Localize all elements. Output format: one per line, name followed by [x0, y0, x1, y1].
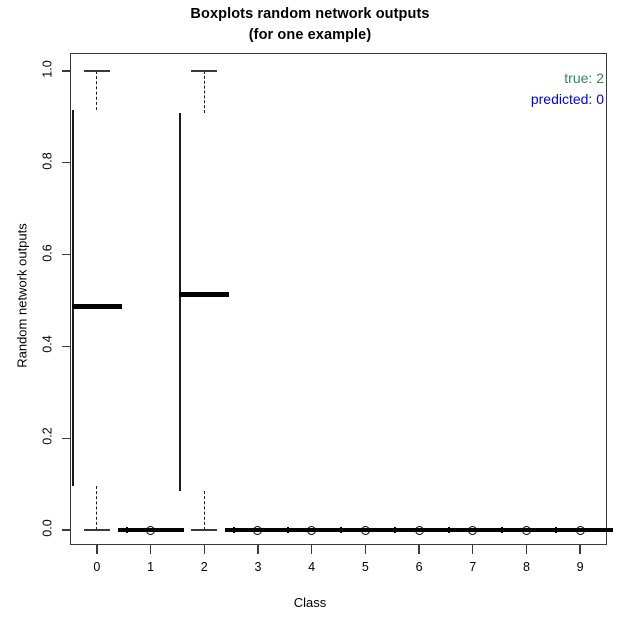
x-tick-mark — [96, 545, 97, 554]
legend-true-row: true: 2 — [531, 68, 604, 89]
x-tick-label: 5 — [345, 560, 385, 574]
x-tick-label: 1 — [131, 560, 171, 574]
x-tick-label: 8 — [506, 560, 546, 574]
legend-true-value: 2 — [596, 70, 604, 86]
chart-title: Boxplots random network outputs (for one… — [0, 4, 620, 46]
chart-title-line-2: (for one example) — [0, 25, 620, 46]
x-tick-mark — [150, 545, 151, 554]
y-tick-label: 0.6 — [0, 246, 56, 260]
x-tick-label: 2 — [184, 560, 224, 574]
x-tick-mark — [365, 545, 366, 554]
legend-predicted-label: predicted: — [531, 91, 592, 107]
x-axis-label: Class — [0, 595, 620, 610]
y-tick-label: 0.8 — [0, 154, 56, 168]
x-tick-label: 6 — [399, 560, 439, 574]
boxplot-figure: Boxplots random network outputs (for one… — [0, 0, 620, 620]
x-tick-label: 4 — [292, 560, 332, 574]
y-tick-label: 1.0 — [0, 62, 56, 76]
chart-title-line-1: Boxplots random network outputs — [0, 4, 620, 25]
x-tick-mark — [257, 545, 258, 554]
x-tick-mark — [418, 545, 419, 554]
y-tick-label: 0.0 — [0, 521, 56, 535]
x-tick-label: 9 — [560, 560, 600, 574]
y-axis-label: Random network outputs — [15, 186, 30, 406]
x-tick-label: 0 — [77, 560, 117, 574]
x-tick-mark — [472, 545, 473, 554]
y-tick-mark — [62, 346, 70, 347]
y-tick-label: 0.2 — [0, 429, 56, 443]
x-tick-mark — [579, 545, 580, 554]
x-tick-label: 7 — [453, 560, 493, 574]
x-tick-mark — [311, 545, 312, 554]
x-tick-mark — [526, 545, 527, 554]
legend-predicted-value: 0 — [596, 91, 604, 107]
legend: true: 2 predicted: 0 — [531, 68, 604, 110]
legend-predicted-row: predicted: 0 — [531, 89, 604, 110]
x-tick-mark — [204, 545, 205, 554]
y-tick-label: 0.4 — [0, 337, 56, 351]
plot-area — [70, 53, 607, 545]
y-tick-mark — [62, 254, 70, 255]
y-tick-mark — [62, 438, 70, 439]
y-tick-mark — [62, 529, 70, 530]
legend-true-label: true: — [564, 70, 592, 86]
x-tick-label: 3 — [238, 560, 278, 574]
y-tick-mark — [62, 162, 70, 163]
y-tick-mark — [62, 70, 70, 71]
